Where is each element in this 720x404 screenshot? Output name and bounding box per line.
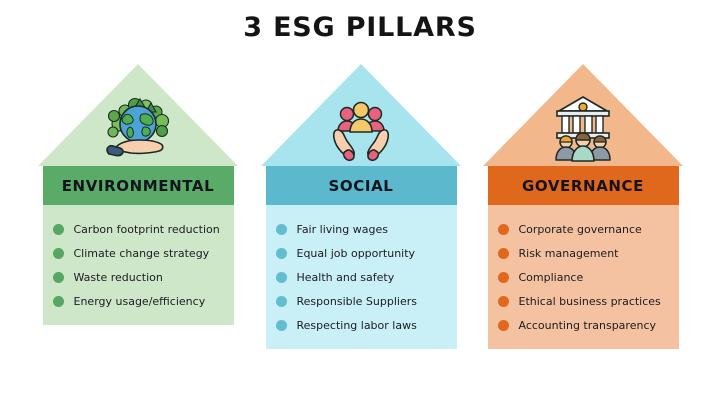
bullet-dot-icon <box>498 296 509 307</box>
bullet-dot-icon <box>53 296 64 307</box>
bullet-dot-icon <box>276 296 287 307</box>
bullet-dot-icon <box>498 320 509 331</box>
list-item-label: Energy usage/efficiency <box>74 296 206 307</box>
pillar-title-environmental: ENVIRONMENTAL <box>62 177 215 195</box>
hand-holding-globe-icon <box>38 92 238 164</box>
list-social: Fair living wages Equal job opportunity … <box>266 205 457 349</box>
list-item-label: Responsible Suppliers <box>297 296 417 307</box>
list-item-label: Compliance <box>519 272 584 283</box>
pillar-title-social: SOCIAL <box>329 177 394 195</box>
list-item: Energy usage/efficiency <box>43 289 234 313</box>
list-item-label: Risk management <box>519 248 619 259</box>
bullet-dot-icon <box>53 248 64 259</box>
list-item: Accounting transparency <box>488 313 679 337</box>
list-environmental: Carbon footprint reduction Climate chang… <box>43 205 234 325</box>
list-item-label: Health and safety <box>297 272 395 283</box>
list-item: Corporate governance <box>488 217 679 241</box>
bullet-dot-icon <box>276 224 287 235</box>
bullet-dot-icon <box>53 272 64 283</box>
government-building-people-icon <box>483 92 683 164</box>
list-item: Equal job opportunity <box>266 241 457 265</box>
list-item: Waste reduction <box>43 265 234 289</box>
pillar-title-governance: GOVERNANCE <box>522 177 644 195</box>
roof-environmental <box>38 64 238 166</box>
list-governance: Corporate governance Risk management Com… <box>488 205 679 349</box>
roof-governance <box>483 64 683 166</box>
list-item-label: Respecting labor laws <box>297 320 417 331</box>
band-environmental: ENVIRONMENTAL <box>43 166 234 205</box>
bullet-dot-icon <box>276 248 287 259</box>
list-item: Risk management <box>488 241 679 265</box>
pillar-governance: GOVERNANCE Corporate governance Risk man… <box>483 64 683 349</box>
hands-holding-people-icon <box>261 92 461 164</box>
list-item: Health and safety <box>266 265 457 289</box>
list-item-label: Corporate governance <box>519 224 642 235</box>
list-item: Compliance <box>488 265 679 289</box>
list-item-label: Waste reduction <box>74 272 163 283</box>
list-item-label: Fair living wages <box>297 224 388 235</box>
pillar-social: SOCIAL Fair living wages Equal job oppor… <box>261 64 461 349</box>
list-item-label: Ethical business practices <box>519 296 661 307</box>
list-item-label: Equal job opportunity <box>297 248 416 259</box>
list-item-label: Carbon footprint reduction <box>74 224 220 235</box>
bullet-dot-icon <box>498 248 509 259</box>
list-item-label: Climate change strategy <box>74 248 210 259</box>
list-item: Ethical business practices <box>488 289 679 313</box>
bullet-dot-icon <box>276 272 287 283</box>
bullet-dot-icon <box>498 272 509 283</box>
list-item: Respecting labor laws <box>266 313 457 337</box>
band-governance: GOVERNANCE <box>488 166 679 205</box>
pillar-environmental: ENVIRONMENTAL Carbon footprint reduction… <box>38 64 238 325</box>
page-title: 3 ESG PILLARS <box>0 12 720 43</box>
esg-infographic: 3 ESG PILLARS <box>0 0 720 404</box>
band-social: SOCIAL <box>266 166 457 205</box>
list-item: Responsible Suppliers <box>266 289 457 313</box>
roof-social <box>261 64 461 166</box>
list-item-label: Accounting transparency <box>519 320 657 331</box>
list-item: Climate change strategy <box>43 241 234 265</box>
bullet-dot-icon <box>276 320 287 331</box>
list-item: Carbon footprint reduction <box>43 217 234 241</box>
bullet-dot-icon <box>498 224 509 235</box>
bullet-dot-icon <box>53 224 64 235</box>
list-item: Fair living wages <box>266 217 457 241</box>
